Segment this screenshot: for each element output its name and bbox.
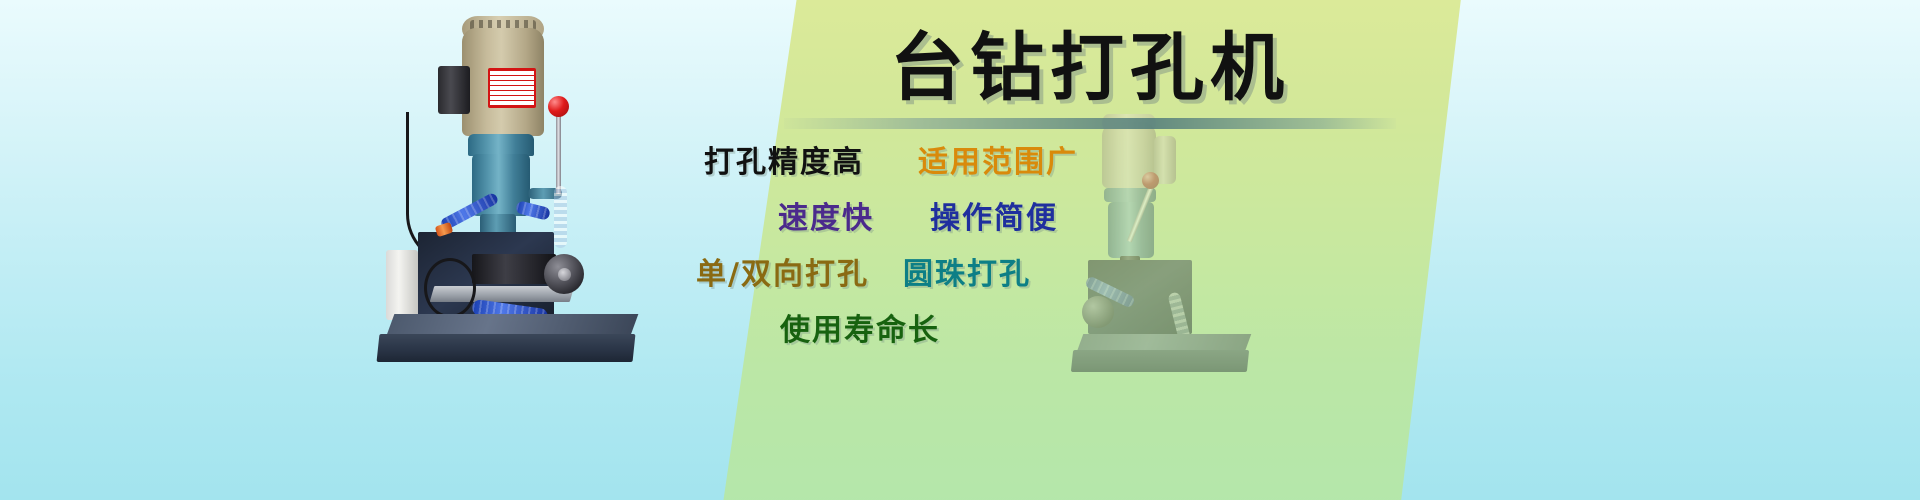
lever-ball xyxy=(548,96,569,117)
title-block: 台钻打孔机 xyxy=(760,30,1420,129)
switch-box xyxy=(386,250,418,320)
feature-item-5: 单/双向打孔 xyxy=(696,249,869,293)
feature-row-3: 单/双向打孔 圆珠打孔 xyxy=(672,245,1372,297)
handwheel-hub xyxy=(558,268,571,281)
base-plate-right xyxy=(1071,350,1249,372)
junction-box xyxy=(438,66,470,114)
lever-rod xyxy=(556,112,561,194)
feature-row-2: 速度快 操作简便 xyxy=(672,189,1372,241)
drill-head-collar xyxy=(468,134,534,156)
banner-title: 台钻打孔机 xyxy=(760,30,1420,108)
product-photo-left xyxy=(376,8,646,368)
product-banner: 台钻打孔机 打孔精度高 适用范围广 速度快 操作简便 单/双向打孔 圆珠打孔 使… xyxy=(0,0,1920,500)
feature-item-6: 圆珠打孔 xyxy=(903,249,1031,293)
feature-item-2: 适用范围广 xyxy=(918,137,1078,181)
feature-row-1: 打孔精度高 适用范围广 xyxy=(672,133,1372,185)
clear-hose xyxy=(554,186,567,248)
motor-label xyxy=(488,68,536,108)
feature-item-4: 操作简便 xyxy=(930,193,1058,237)
base-plate xyxy=(377,334,636,362)
vise-assembly xyxy=(472,254,556,284)
feature-row-4: 使用寿命长 xyxy=(672,301,1372,353)
coolant-hose-right xyxy=(515,200,551,221)
feature-item-3: 速度快 xyxy=(778,193,874,237)
cable-loop xyxy=(424,258,476,318)
feature-item-1: 打孔精度高 xyxy=(704,137,864,181)
feature-list: 打孔精度高 适用范围广 速度快 操作简便 单/双向打孔 圆珠打孔 使用寿命长 xyxy=(672,133,1372,353)
feature-item-7: 使用寿命长 xyxy=(780,305,940,349)
title-divider xyxy=(784,118,1396,129)
